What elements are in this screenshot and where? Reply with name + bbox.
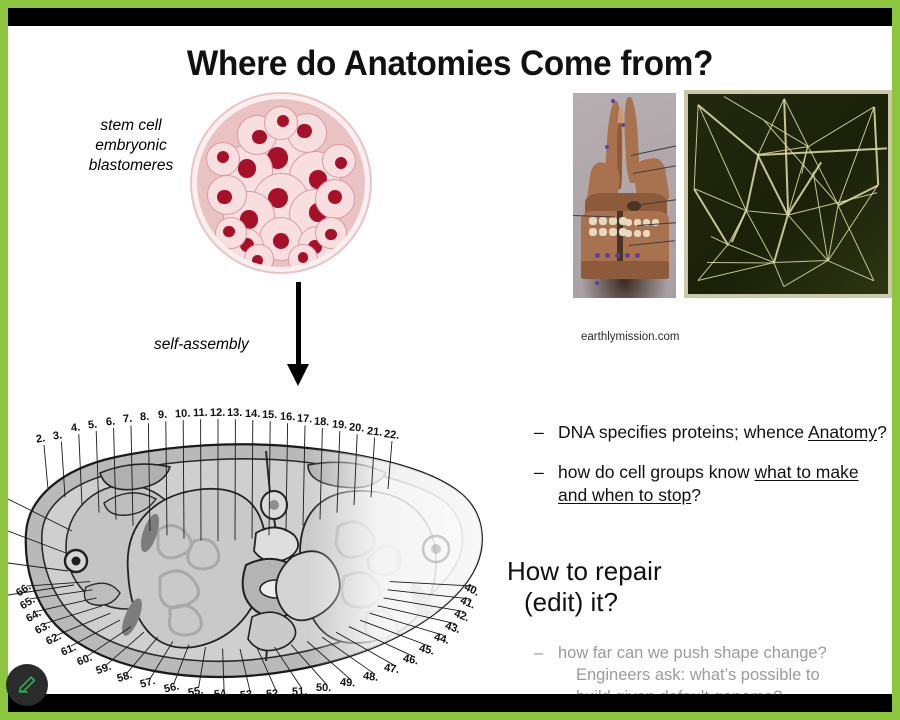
- anatomy-number-label: 19.: [331, 418, 347, 431]
- anatomy-number-label: 48.: [362, 670, 379, 684]
- anatomy-number-label: 13.: [227, 407, 242, 419]
- web-strand: [745, 155, 759, 211]
- specimen-blue-marker: [611, 99, 615, 103]
- specimen-blue-marker: [621, 123, 625, 127]
- anatomy-number-label: 20.: [349, 422, 365, 435]
- slide-frame: Where do Anatomies Come from? stem cell …: [0, 0, 900, 720]
- specimen-base: [581, 261, 669, 279]
- specimen-photo: [573, 93, 676, 298]
- web-strand: [773, 215, 789, 264]
- specimen-tooth: [599, 217, 607, 225]
- specimen-tooth: [589, 228, 597, 236]
- anatomy-number-label: 14.: [245, 408, 260, 420]
- anatomy-number-label: 4.: [70, 422, 81, 435]
- blastomere-nucleus: [252, 130, 266, 144]
- self-assembly-label: self-assembly: [154, 336, 249, 354]
- anatomy-number-label: 6.: [105, 416, 115, 429]
- web-strand: [746, 210, 788, 215]
- web-strand: [707, 262, 774, 264]
- stem-cell-label-line2: embryonic: [95, 137, 167, 154]
- anatomy-number-label: 52.: [266, 688, 282, 694]
- bullet-dash: –: [534, 461, 544, 484]
- subbullet-line2: Engineers ask: what’s possible to: [558, 664, 892, 686]
- anatomy-number-label: 49.: [340, 677, 356, 690]
- bullet-cell-groups: –how do cell groups know what to make an…: [529, 461, 889, 507]
- anatomy-number-label: 50.: [316, 682, 332, 694]
- specimen-tooth: [625, 219, 632, 226]
- stem-cell-label-line1: stem cell: [100, 117, 161, 134]
- specimen-blue-marker: [595, 281, 599, 285]
- repair-subbullet: –how far can we push shape change? Engin…: [529, 642, 892, 694]
- specimen-tooth: [609, 217, 617, 225]
- edit-annotation-button[interactable]: [6, 664, 48, 706]
- anatomy-number-label: 3.: [53, 429, 64, 442]
- anatomy-number-label: 16.: [279, 411, 295, 423]
- specimen-tooth: [643, 230, 650, 237]
- web-strand: [728, 244, 774, 263]
- repair-heading: How to repair (edit) it?: [507, 556, 662, 618]
- bullet-dna: –DNA specifies proteins; whence Anatomy?: [529, 421, 889, 444]
- anatomy-number-label: 54.: [213, 687, 230, 694]
- specimen-blue-marker: [615, 253, 620, 258]
- specimen-blue-marker: [625, 253, 630, 258]
- anatomy-number-label: 2.: [35, 432, 46, 445]
- web-strand: [745, 210, 774, 263]
- repair-heading-line2: (edit) it?: [507, 587, 662, 618]
- anatomy-number-label: 47.: [383, 662, 400, 676]
- subbullet-dash: –: [534, 642, 543, 664]
- pencil-icon: [16, 674, 38, 696]
- bullet-cell-groups-post: ?: [691, 485, 701, 505]
- anatomy-number-label: 53.: [239, 688, 255, 694]
- bullet-dash: –: [534, 421, 544, 444]
- anatomy-cross-section: 2.3.4.5.6.7.8.9.10.11.12.13.14.15.16.17.…: [8, 381, 508, 694]
- web-strand: [808, 106, 875, 147]
- specimen-tooth: [625, 230, 632, 237]
- bullet-dna-underlined: Anatomy: [808, 422, 877, 442]
- anatomy-number-label: 55.: [187, 685, 204, 694]
- blastomere-nucleus: [325, 229, 337, 241]
- specimen-blue-marker: [605, 145, 609, 149]
- slide-canvas: Where do Anatomies Come from? stem cell …: [8, 26, 892, 694]
- bullet-cell-groups-pre: how do cell groups know: [558, 462, 755, 482]
- anatomy-number-label: 18.: [314, 416, 330, 429]
- web-strand: [693, 105, 698, 189]
- subbullet-line3: build given default genome?: [558, 686, 892, 694]
- web-strand: [758, 147, 888, 156]
- photo-credit: earthlymission.com: [581, 331, 679, 343]
- subbullet-line1: how far can we push shape change?: [558, 644, 827, 662]
- web-strand: [774, 260, 828, 263]
- blastomere-nucleus: [297, 124, 311, 138]
- anatomy-number-label: 5.: [88, 419, 98, 432]
- page-title: Where do Anatomies Come from?: [30, 44, 870, 84]
- anatomy-number-label: 10.: [175, 408, 191, 421]
- web-strand: [828, 260, 875, 281]
- web-strand: [697, 104, 746, 211]
- blastomere-nucleus: [273, 233, 289, 249]
- web-strand: [873, 107, 879, 185]
- top-black-bar: [8, 8, 892, 26]
- anatomy-number-label: 9.: [157, 409, 167, 421]
- anatomy-number-label: 7.: [123, 413, 133, 426]
- spider-web-photo: [684, 90, 892, 298]
- specimen-dark-nodule: [627, 201, 641, 211]
- blastomere-nucleus: [335, 157, 347, 169]
- anatomy-number-label: 8.: [140, 411, 150, 424]
- anatomy-number-label: 17.: [297, 413, 313, 426]
- specimen-tooth: [599, 228, 607, 236]
- blastomere-nucleus: [217, 190, 231, 204]
- anatomy-number-label: 56.: [162, 681, 180, 694]
- bullet-dna-pre: DNA specifies proteins; whence: [558, 422, 808, 442]
- anatomy-number-label: 22.: [383, 428, 399, 442]
- anatomy-number-label: 15.: [262, 409, 278, 421]
- repair-heading-line1: How to repair: [507, 556, 662, 586]
- anatomy-number-label: 21.: [366, 425, 382, 438]
- embryo-blastomere-diagram: [190, 92, 372, 274]
- specimen-tooth: [609, 228, 617, 236]
- anatomy-number-label: 51.: [291, 686, 307, 694]
- specimen-tooth: [634, 230, 641, 237]
- specimen-blue-marker: [635, 253, 640, 258]
- anatomy-leader-line: [44, 445, 48, 489]
- specimen-blue-marker: [605, 253, 610, 258]
- question-bullets: –DNA specifies proteins; whence Anatomy?…: [529, 421, 889, 524]
- web-strand: [783, 99, 789, 215]
- blastomere-nucleus: [223, 226, 235, 238]
- web-strand: [773, 262, 784, 286]
- stem-cell-label-line3: blastomeres: [89, 157, 173, 174]
- anatomy-number-label: 11.: [192, 407, 207, 419]
- web-strand: [731, 211, 747, 243]
- blastomere-nucleus: [252, 255, 263, 266]
- web-strand: [784, 260, 829, 287]
- blastomere-nucleus: [238, 159, 257, 178]
- bullet-dna-post: ?: [877, 422, 887, 442]
- blastomere-nucleus: [298, 252, 309, 263]
- stem-cell-label: stem cell embryonic blastomeres: [66, 116, 196, 176]
- embryo-cell-mass: [197, 99, 365, 267]
- self-assembly-arrow-shaft: [296, 282, 301, 370]
- anatomy-ghost-vessel-core: [431, 544, 441, 554]
- anatomy-number-label: 12.: [210, 407, 226, 419]
- specimen-tooth: [589, 217, 597, 225]
- specimen-blue-marker: [595, 253, 600, 258]
